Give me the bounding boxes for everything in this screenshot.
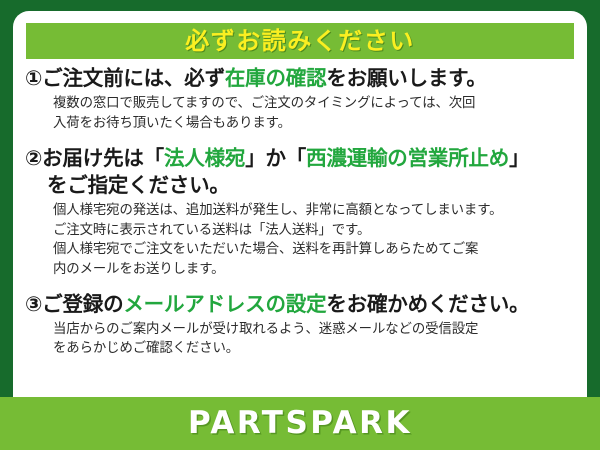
item-3-heading-pre: ご登録の	[42, 292, 123, 316]
item-3-body-line-1: 当店からのご案内メールが受け取れるよう、迷惑メールなどの受信設定	[53, 320, 577, 340]
notice-item-2-heading: ②お届け先は「法人様宛」か「西濃運輸の営業所止め」	[25, 145, 577, 172]
notice-card: 必ずお読みください ①ご注文前には、必ず在庫の確認をお願いします。 複数の窓口で…	[13, 11, 587, 416]
item-3-heading-post: をお確かめください。	[326, 292, 529, 316]
notice-item-2-body: 個人様宅宛の発送は、追加送料が発生し、非常に高額となってしまいます。 ご注文時に…	[25, 201, 577, 279]
notice-item-3: ③ご登録のメールアドレスの設定をお確かめください。 当店からのご案内メールが受け…	[25, 291, 577, 359]
item-2-heading-mid: 」か「	[245, 146, 306, 170]
item-2-heading-pre: お届け先は「	[42, 146, 164, 170]
item-2-body-line-2: ご注文時に表示されている送料は「法人送料」です。	[53, 221, 577, 241]
item-1-body-line-2: 入荷をお待ち頂いたく場合もあります。	[53, 114, 577, 134]
item-1-body-line-1: 複数の窓口で販売してますので、ご注文のタイミングによっては、次回	[53, 94, 577, 114]
item-1-marker: ①	[25, 66, 42, 90]
notice-item-1: ①ご注文前には、必ず在庫の確認をお願いします。 複数の窓口で販売してますので、ご…	[25, 65, 577, 133]
item-2-body-line-3: 個人様宅宛でご注文をいただいた場合、送料を再計算しあらためてご案	[53, 240, 577, 260]
page-title: 必ずお読みください	[185, 29, 415, 53]
item-1-heading-post: をお願いします。	[326, 66, 486, 90]
notice-frame: 必ずお読みください ①ご注文前には、必ず在庫の確認をお願いします。 複数の窓口で…	[0, 0, 600, 450]
item-2-heading-accent-2: 西濃運輸の営業所止め	[306, 146, 509, 170]
notice-item-2: ②お届け先は「法人様宛」か「西濃運輸の営業所止め」 をご指定ください。 個人様宅…	[25, 145, 577, 279]
notice-item-3-body: 当店からのご案内メールが受け取れるよう、迷惑メールなどの受信設定 をあらかじめご…	[25, 320, 577, 359]
notice-item-1-heading: ①ご注文前には、必ず在庫の確認をお願いします。	[25, 65, 577, 92]
notice-item-3-heading: ③ご登録のメールアドレスの設定をお確かめください。	[25, 291, 577, 318]
item-2-heading-line-2: をご指定ください。	[25, 172, 577, 199]
item-2-body-line-4: 内のメールをお送りします。	[53, 260, 577, 280]
item-1-heading-accent: 在庫の確認	[225, 66, 327, 90]
item-1-heading-pre: ご注文前には、必ず	[42, 66, 225, 90]
notice-item-2-heading-line2: をご指定ください。	[25, 172, 577, 199]
item-3-heading-accent: メールアドレスの設定	[123, 292, 326, 316]
footer-bar: PARTSPARK	[0, 397, 600, 450]
item-2-heading-accent: 法人様宛	[164, 146, 245, 170]
brand-logo: PARTSPARK	[188, 408, 412, 439]
notice-body: ①ご注文前には、必ず在庫の確認をお願いします。 複数の窓口で販売してますので、ご…	[13, 65, 587, 363]
notice-item-1-body: 複数の窓口で販売してますので、ご注文のタイミングによっては、次回 入荷をお待ち頂…	[25, 94, 577, 133]
item-2-body-line-1: 個人様宅宛の発送は、追加送料が発生し、非常に高額となってしまいます。	[53, 201, 577, 221]
item-2-marker: ②	[25, 146, 42, 170]
item-3-marker: ③	[25, 292, 42, 316]
item-2-heading-post: 」	[509, 146, 529, 170]
header-bar: 必ずお読みください	[26, 23, 574, 59]
item-3-body-line-2: をあらかじめご確認ください。	[53, 339, 577, 359]
